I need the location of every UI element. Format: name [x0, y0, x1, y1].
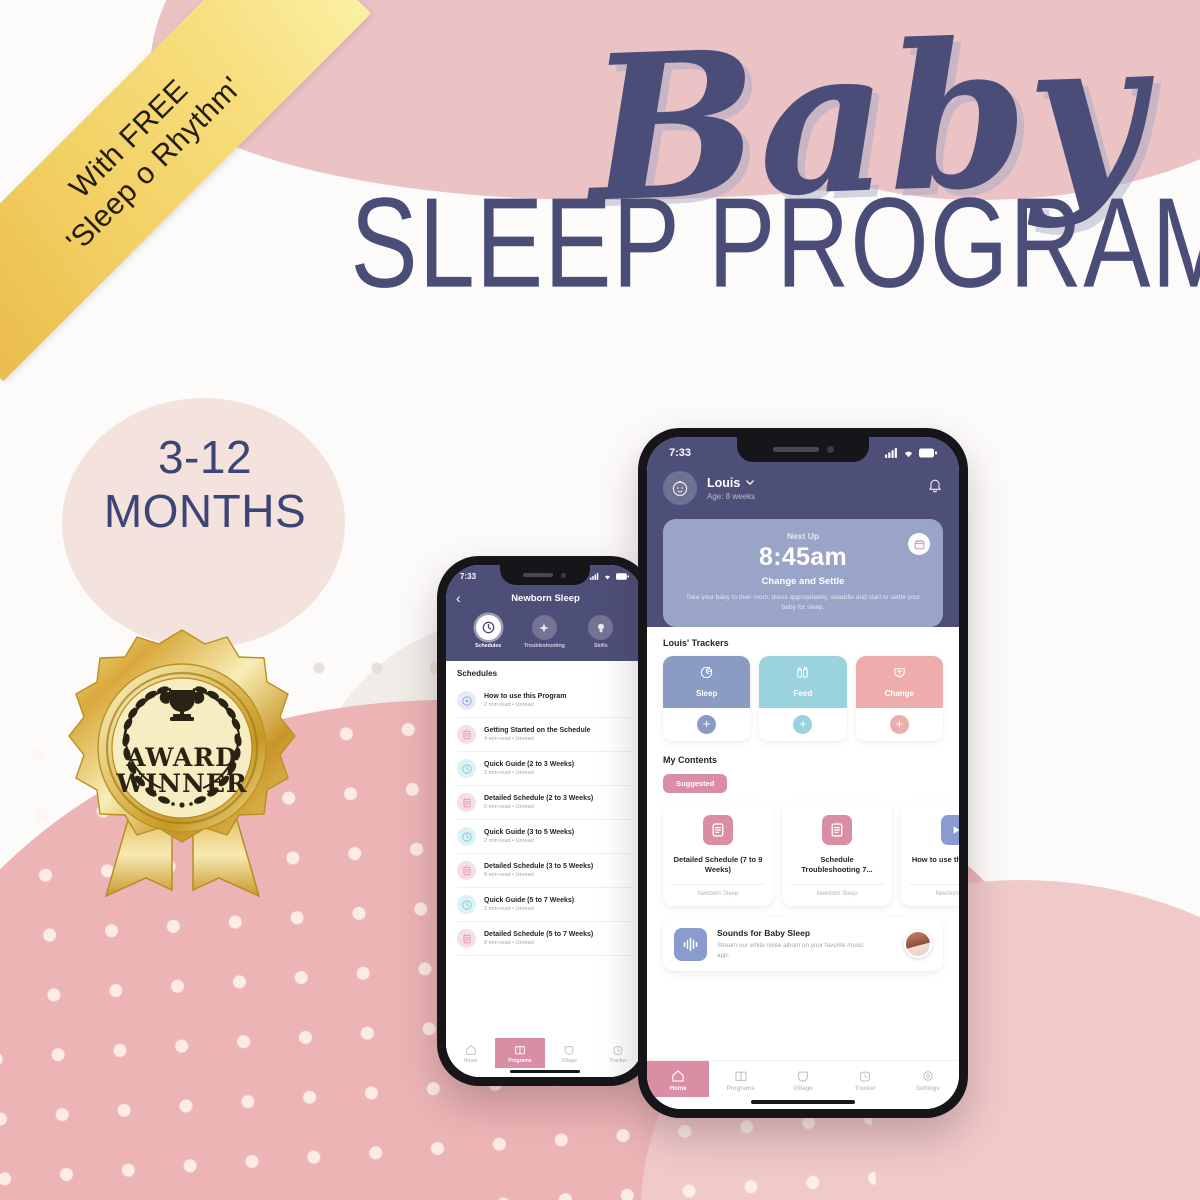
play-icon — [941, 815, 959, 845]
front-phone-content: Louis' Trackers Sleep+Feed+Change+ My Co… — [647, 627, 959, 971]
back-phone-navbar: ‹ Newborn Sleep Schedules Trouble — [446, 583, 643, 661]
document-icon — [457, 725, 476, 744]
content-card-subtitle: Newborn Sleep — [909, 884, 959, 897]
tracker-card-head: Feed — [759, 656, 846, 708]
user-row: Louis Age: 8 weeks — [663, 471, 943, 505]
home-icon — [671, 1069, 685, 1083]
chevron-left-icon[interactable]: ‹ — [456, 590, 476, 606]
content-card[interactable]: Detailed Schedule (7 to 9 Weeks)Newborn … — [663, 802, 773, 906]
trackers-row: Sleep+Feed+Change+ — [663, 656, 943, 741]
status-time: 7:33 — [669, 447, 691, 459]
tracker-label: Change — [885, 689, 914, 698]
schedule-item-title: Detailed Schedule (2 to 3 Weeks) — [484, 795, 593, 802]
baby-name-selector[interactable]: Louis — [707, 476, 755, 490]
soundwave-icon — [674, 928, 707, 961]
sounds-card[interactable]: Sounds for Baby Sleep Stream our white n… — [663, 918, 943, 971]
wifi-icon — [902, 448, 915, 458]
schedule-list-item[interactable]: Detailed Schedule (3 to 5 Weeks)8 min re… — [457, 854, 632, 888]
status-indicators — [885, 448, 937, 458]
tracker-card-head: Change — [856, 656, 943, 708]
tabbar-label: Tracker — [855, 1086, 876, 1092]
poster-headline: Baby SLEEP PROGRAM — [382, 42, 1172, 287]
next-up-time: 8:45am — [677, 543, 929, 572]
schedule-item-title: Getting Started on the Schedule — [484, 727, 591, 734]
tracker-icon — [858, 1069, 872, 1083]
tracker-card-foot: + — [759, 708, 846, 741]
schedule-item-meta: 2 min read • Unread — [484, 838, 574, 844]
award-winner-medal: AWARD WINNER — [60, 628, 305, 898]
front-phone-statusbar: 7:33 — [647, 437, 959, 461]
schedule-item-title: Detailed Schedule (5 to 7 Weeks) — [484, 931, 593, 938]
schedule-item-meta: 2 min read • Unread — [484, 770, 574, 776]
contents-row: Detailed Schedule (7 to 9 Weeks)Newborn … — [663, 802, 943, 906]
baby-avatar-icon[interactable] — [663, 471, 697, 505]
suggested-filter-pill[interactable]: Suggested — [663, 774, 727, 793]
age-range-badge: 3-12 MONTHS — [75, 430, 335, 539]
age-range-value: 3-12 — [75, 430, 335, 484]
tracker-card-sleep[interactable]: Sleep+ — [663, 656, 750, 741]
schedule-list-item[interactable]: Quick Guide (3 to 5 Weeks)2 min read • U… — [457, 820, 632, 854]
medal-winner-text: WINNER — [115, 769, 247, 798]
back-phone-content: Schedules How to use this Program2 min r… — [446, 661, 643, 1077]
status-time: 7:33 — [460, 572, 476, 581]
back-phone-statusbar: 7:33 — [446, 565, 643, 583]
tabbar-item-programs[interactable]: Programs — [709, 1061, 771, 1097]
content-card-title: Schedule Troubleshooting 7... — [790, 855, 884, 876]
medal-award-text: AWARD — [125, 743, 237, 772]
tabbar-item-village[interactable]: Village — [545, 1038, 594, 1068]
home-indicator — [751, 1100, 855, 1104]
front-phone-header: Louis Age: 8 weeks — [647, 461, 959, 519]
schedules-list: How to use this Program2 min read • Unre… — [457, 684, 632, 956]
tab-troubleshooting-label: Troubleshooting — [524, 643, 565, 649]
schedule-item-meta: 8 min read • Unread — [484, 872, 593, 878]
clock-icon — [457, 827, 476, 846]
schedule-list-item[interactable]: How to use this Program2 min read • Unre… — [457, 684, 632, 718]
sounds-text-block: Sounds for Baby Sleep Stream our white n… — [717, 928, 877, 960]
add-tracker-entry-button[interactable]: + — [697, 715, 716, 734]
schedule-item-meta: 2 min read • Unread — [484, 906, 574, 912]
sounds-subtitle: Stream our white noise album on your fav… — [717, 941, 877, 960]
chevron-down-icon — [746, 480, 754, 485]
content-card-subtitle: Newborn Sleep — [671, 884, 765, 897]
schedule-list-item[interactable]: Quick Guide (5 to 7 Weeks)2 min read • U… — [457, 888, 632, 922]
document-icon — [703, 815, 733, 845]
schedule-item-text: Quick Guide (2 to 3 Weeks)2 min read • U… — [484, 761, 574, 776]
document-icon — [822, 815, 852, 845]
lightbulb-icon — [588, 615, 613, 640]
front-phone-header-area: 7:33 Louis A — [647, 437, 959, 627]
sounds-title: Sounds for Baby Sleep — [717, 928, 877, 938]
schedule-item-text: Quick Guide (5 to 7 Weeks)2 min read • U… — [484, 897, 574, 912]
tabbar-label: Village — [793, 1086, 812, 1092]
tab-troubleshooting[interactable]: Troubleshooting — [516, 615, 572, 649]
schedule-list-item[interactable]: Getting Started on the Schedule4 min rea… — [457, 718, 632, 752]
gear-icon — [921, 1069, 935, 1083]
add-tracker-entry-button[interactable]: + — [793, 715, 812, 734]
add-tracker-entry-button[interactable]: + — [890, 715, 909, 734]
back-phone-mockup: 7:33 ‹ Newborn Sleep Sc — [437, 556, 652, 1086]
clock-icon — [476, 615, 501, 640]
tabbar-home-label: Home — [464, 1058, 478, 1064]
clock-icon — [457, 895, 476, 914]
next-up-card[interactable]: Next Up 8:45am Change and Settle Take yo… — [663, 519, 943, 627]
home-icon — [465, 1044, 477, 1056]
document-icon — [457, 793, 476, 812]
diaper-icon — [892, 665, 907, 685]
schedules-section-title: Schedules — [457, 669, 632, 678]
schedule-item-text: Detailed Schedule (2 to 3 Weeks)5 min re… — [484, 795, 593, 810]
schedule-item-text: How to use this Program2 min read • Unre… — [484, 693, 566, 708]
schedule-list-item[interactable]: Detailed Schedule (5 to 7 Weeks)8 min re… — [457, 922, 632, 956]
tab-schedules[interactable]: Schedules — [460, 615, 516, 649]
schedule-item-meta: 8 min read • Unread — [484, 940, 593, 946]
tracker-card-feed[interactable]: Feed+ — [759, 656, 846, 741]
back-phone-tabs: Schedules Troubleshooting Skills — [456, 609, 633, 651]
tabbar-item-settings[interactable]: Settings — [897, 1061, 959, 1097]
schedule-list-item[interactable]: Quick Guide (2 to 3 Weeks)2 min read • U… — [457, 752, 632, 786]
front-phone-screen: 7:33 Louis A — [647, 437, 959, 1109]
bell-icon[interactable] — [927, 478, 943, 499]
tabbar-item-village[interactable]: Village — [772, 1061, 834, 1097]
schedule-item-text: Detailed Schedule (5 to 7 Weeks)8 min re… — [484, 931, 593, 946]
schedule-item-title: Detailed Schedule (3 to 5 Weeks) — [484, 863, 593, 870]
tabbar-village-label: Village — [561, 1058, 577, 1064]
tabbar-programs-label: Programs — [508, 1058, 531, 1064]
back-phone-screen: 7:33 ‹ Newborn Sleep Sc — [446, 565, 643, 1077]
tabbar-label: Programs — [727, 1086, 755, 1092]
sparkle-icon — [532, 615, 557, 640]
document-icon — [457, 929, 476, 948]
tabbar-item-home[interactable]: Home — [647, 1061, 709, 1097]
play-icon — [457, 691, 476, 710]
shield-icon — [796, 1069, 810, 1083]
schedule-item-text: Detailed Schedule (3 to 5 Weeks)8 min re… — [484, 863, 593, 878]
tab-schedules-label: Schedules — [475, 643, 501, 649]
next-up-description: Take your baby to their room, dress appr… — [677, 593, 929, 613]
schedule-item-title: Quick Guide (3 to 5 Weeks) — [484, 829, 574, 836]
contents-section-title: My Contents — [663, 755, 943, 765]
tracker-icon — [612, 1044, 624, 1056]
calendar-icon[interactable] — [908, 533, 930, 555]
person-avatar — [904, 930, 932, 958]
tabbar-item-programs[interactable]: Programs — [495, 1038, 544, 1068]
battery-icon — [616, 573, 629, 580]
trackers-section-title: Louis' Trackers — [663, 638, 943, 648]
schedule-item-meta: 2 min read • Unread — [484, 702, 566, 708]
book-icon — [734, 1069, 748, 1083]
content-card-title: How to use this Program — [909, 855, 959, 876]
schedule-item-title: Quick Guide (2 to 3 Weeks) — [484, 761, 574, 768]
content-card-subtitle: Newborn Sleep — [790, 884, 884, 897]
tabbar-item-tracker[interactable]: Tracker — [834, 1061, 896, 1097]
tabbar-item-home[interactable]: Home — [446, 1038, 495, 1068]
next-up-activity: Change and Settle — [677, 576, 929, 587]
signal-icon — [885, 448, 898, 458]
tab-skills[interactable]: Skills — [573, 615, 629, 649]
content-card[interactable]: Schedule Troubleshooting 7...Newborn Sle… — [782, 802, 892, 906]
headline-sleep-program: SLEEP PROGRAM — [350, 184, 1172, 302]
wifi-icon — [603, 573, 612, 580]
schedule-item-title: Quick Guide (5 to 7 Weeks) — [484, 897, 574, 904]
user-text-block: Louis Age: 8 weeks — [707, 476, 755, 501]
back-phone-page-title: Newborn Sleep — [476, 593, 615, 604]
shield-icon — [563, 1044, 575, 1056]
schedule-item-text: Getting Started on the Schedule4 min rea… — [484, 727, 591, 742]
content-card-title: Detailed Schedule (7 to 9 Weeks) — [671, 855, 765, 876]
tabbar-tracker-label: Tracker — [609, 1058, 627, 1064]
tracker-card-change[interactable]: Change+ — [856, 656, 943, 741]
moon-clock-icon — [699, 665, 714, 685]
tab-skills-label: Skills — [594, 643, 608, 649]
signal-icon — [590, 573, 599, 580]
tracker-card-foot: + — [856, 708, 943, 741]
award-medal-graphic: AWARD WINNER — [60, 628, 305, 898]
tabbar-item-tracker[interactable]: Tracker — [594, 1038, 643, 1068]
bottle-icon — [795, 665, 810, 685]
baby-age: Age: 8 weeks — [707, 492, 755, 501]
tracker-label: Feed — [794, 689, 813, 698]
age-range-unit: MONTHS — [75, 484, 335, 538]
front-phone-mockup: 7:33 Louis A — [638, 428, 968, 1118]
back-phone-header-area: 7:33 ‹ Newborn Sleep Sc — [446, 565, 643, 661]
battery-icon — [919, 448, 937, 458]
schedule-list-item[interactable]: Detailed Schedule (2 to 3 Weeks)5 min re… — [457, 786, 632, 820]
book-icon — [514, 1044, 526, 1056]
clock-icon — [457, 759, 476, 778]
document-icon — [457, 861, 476, 880]
schedule-item-meta: 4 min read • Unread — [484, 736, 591, 742]
tracker-card-foot: + — [663, 708, 750, 741]
back-phone-title-row: ‹ Newborn Sleep — [456, 587, 633, 609]
tabbar-label: Home — [670, 1086, 687, 1092]
next-up-label: Next Up — [677, 531, 929, 541]
tabbar-label: Settings — [916, 1086, 940, 1092]
schedule-item-title: How to use this Program — [484, 693, 566, 700]
schedule-item-text: Quick Guide (3 to 5 Weeks)2 min read • U… — [484, 829, 574, 844]
schedule-item-meta: 5 min read • Unread — [484, 804, 593, 810]
content-card[interactable]: How to use this ProgramNewborn Sleep — [901, 802, 959, 906]
tracker-label: Sleep — [696, 689, 717, 698]
home-indicator — [510, 1070, 580, 1073]
tracker-card-head: Sleep — [663, 656, 750, 708]
baby-name: Louis — [707, 476, 740, 490]
status-indicators — [590, 573, 629, 580]
